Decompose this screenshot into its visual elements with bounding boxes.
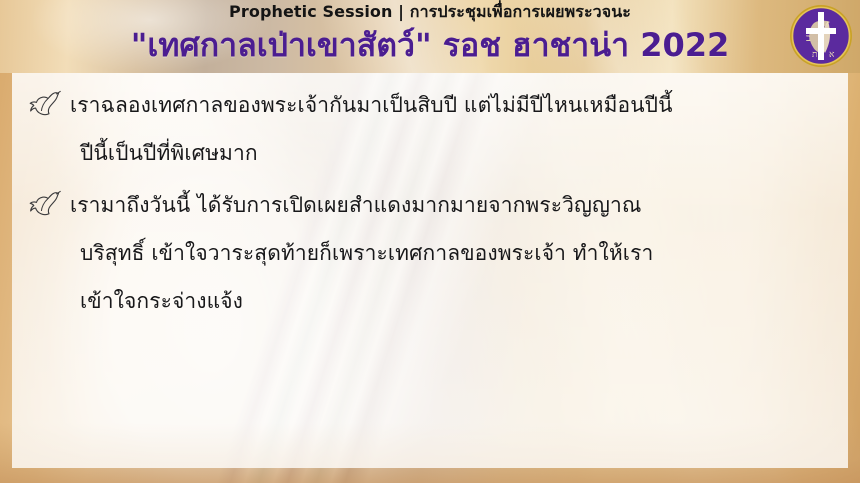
svg-text:ב: ב [806,33,811,44]
list-item: เราฉลองเทศกาลของพระเจ้ากันมาเป็นสิบปี แต… [28,81,834,177]
dove-icon [28,89,62,119]
list-item-text: เราฉลองเทศกาลของพระเจ้ากันมาเป็นสิบปี แต… [70,81,673,177]
bullet-list: เราฉลองเทศกาลของพระเจ้ากันมาเป็นสิบปี แต… [12,81,848,329]
bullet-line: เราฉลองเทศกาลของพระเจ้ากันมาเป็นสิบปี แต… [70,81,673,129]
svg-text:א: א [829,50,835,60]
header-kicker: Prophetic Session | การประชุมเพื่อการเผย… [229,1,631,23]
header-banner: Prophetic Session | การประชุมเพื่อการเผย… [0,0,860,73]
list-item: เรามาถึงวันนี้ ได้รับการเปิดเผยสำแดงมากม… [28,181,834,325]
page-title: "เทศกาลเป่าเขาสัตว์" รอช ฮาชาน่า 2022 [131,23,730,67]
cross-lion-emblem-icon: ב ת א [788,3,854,69]
bullet-line: บริสุทธิ์ เข้าใจวาระสุดท้ายก็เพราะเทศกาล… [70,229,653,277]
svg-text:ת: ת [812,50,818,60]
bullet-line: เข้าใจกระจ่างแจ้ง [70,277,653,325]
bullet-line: ปีนี้เป็นปีที่พิเศษมาก [70,129,673,177]
content-panel: เราฉลองเทศกาลของพระเจ้ากันมาเป็นสิบปี แต… [12,73,848,468]
bullet-line: เรามาถึงวันนี้ ได้รับการเปิดเผยสำแดงมากม… [70,181,653,229]
list-item-text: เรามาถึงวันนี้ ได้รับการเปิดเผยสำแดงมากม… [70,181,653,325]
dove-icon [28,189,62,219]
slide-root: Prophetic Session | การประชุมเพื่อการเผย… [0,0,860,483]
